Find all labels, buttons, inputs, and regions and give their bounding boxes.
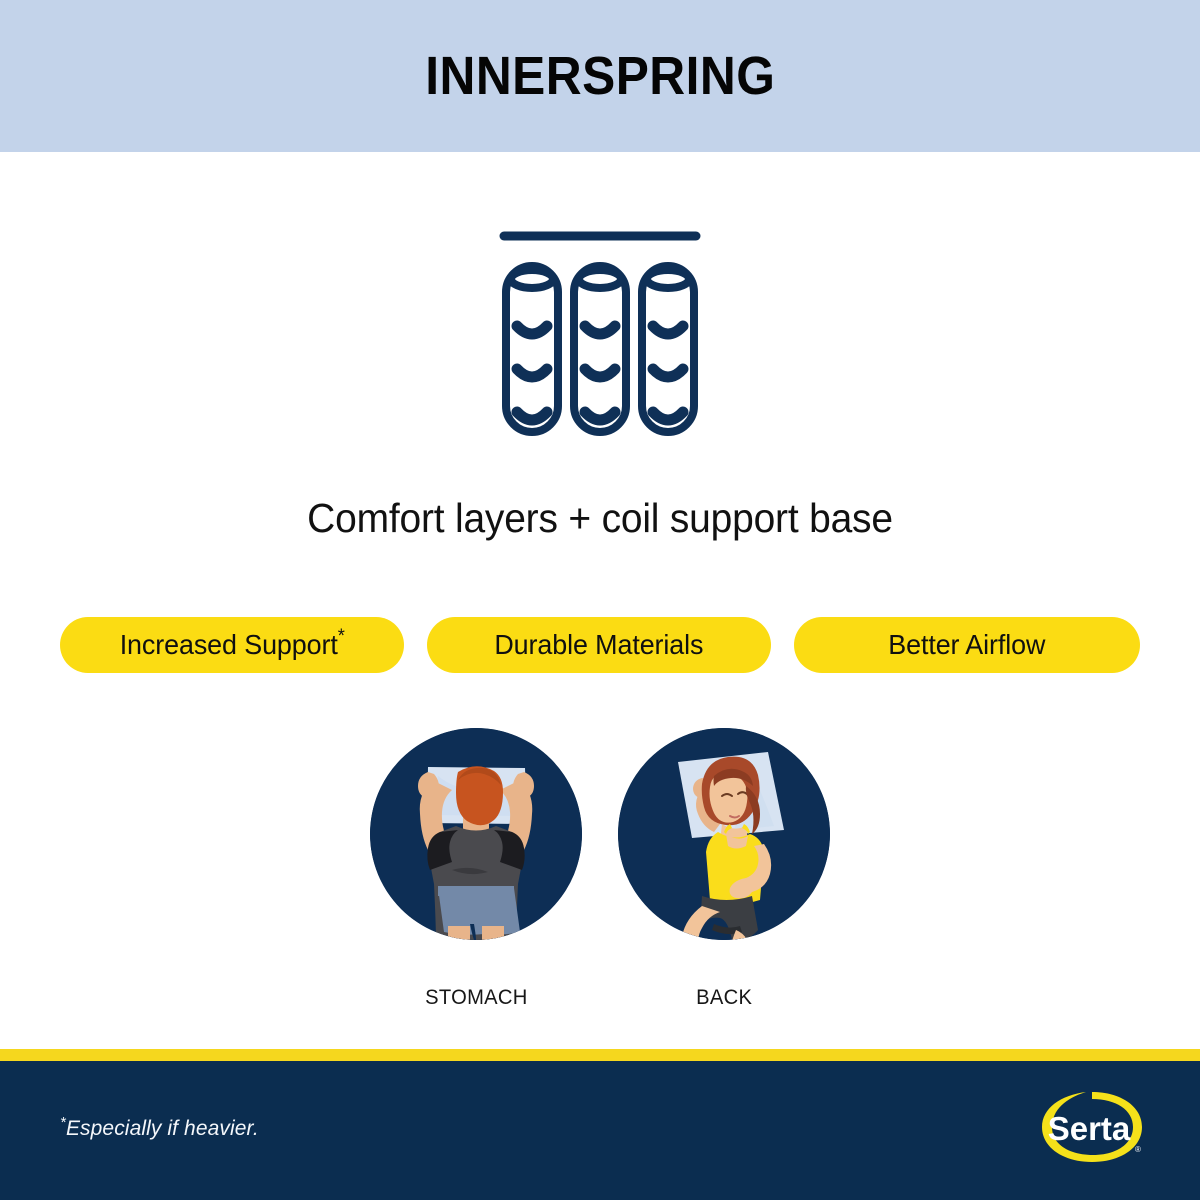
footer-accent-stripe	[0, 1049, 1200, 1061]
coil-icon-container	[0, 222, 1200, 452]
benefit-pill-label: Durable Materials	[494, 629, 703, 661]
subtitle-text: Comfort layers + coil support base	[30, 495, 1170, 542]
registered-mark: ®	[1135, 1145, 1141, 1154]
footnote-text: *Especially if heavier.	[60, 1117, 259, 1141]
sleep-position-label: STOMACH	[425, 986, 527, 1010]
stomach-sleeper-illustration	[370, 728, 582, 940]
benefit-pill-durable-materials[interactable]: Durable Materials	[427, 617, 771, 673]
serta-logo[interactable]: Serta ®	[1036, 1086, 1148, 1174]
sleep-positions-row: STOMACH	[0, 728, 1200, 1010]
page-title: INNERSPRING	[425, 49, 775, 103]
sleep-position-card-back[interactable]: BACK	[618, 728, 830, 1010]
benefit-pill-increased-support[interactable]: Increased Support*	[60, 617, 404, 673]
back-sleeper-illustration	[618, 728, 830, 940]
benefit-pill-label: Increased Support*	[119, 629, 344, 661]
infographic-page: INNERSPRING	[0, 0, 1200, 1200]
coil-stack-icon	[490, 222, 710, 442]
benefits-row: Increased Support* Durable Materials Bet…	[60, 617, 1140, 673]
footnote-marker: *	[338, 626, 345, 647]
serta-wordmark: Serta	[1048, 1110, 1131, 1147]
benefit-pill-label: Better Airflow	[888, 629, 1045, 661]
page-header: INNERSPRING	[0, 0, 1200, 152]
sleep-position-label: BACK	[696, 986, 752, 1010]
sleep-position-card-stomach[interactable]: STOMACH	[370, 728, 582, 1010]
benefit-pill-better-airflow[interactable]: Better Airflow	[794, 617, 1140, 673]
